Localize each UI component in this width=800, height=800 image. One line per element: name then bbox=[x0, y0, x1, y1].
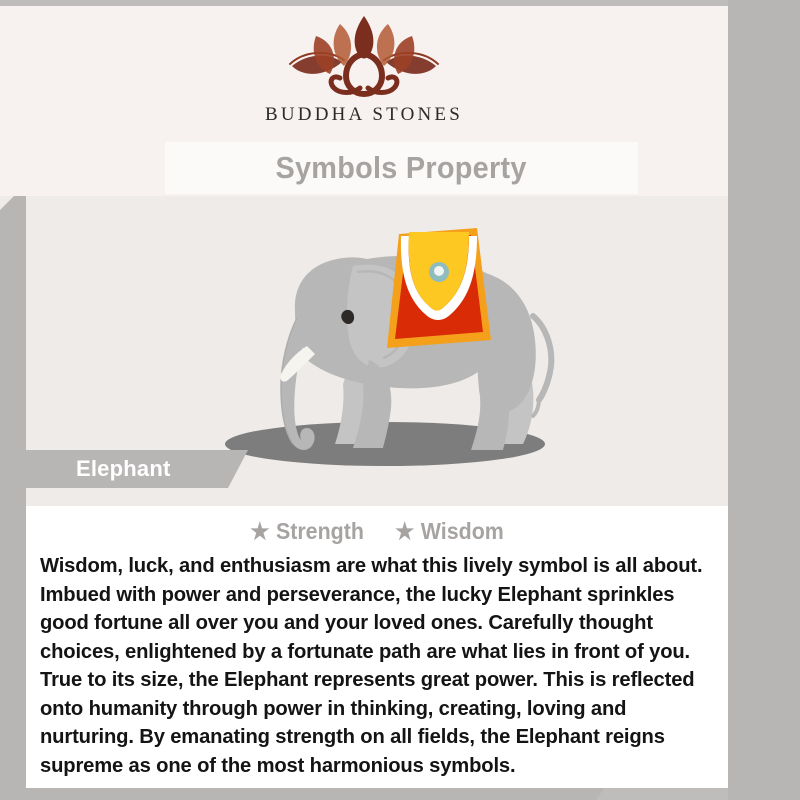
symbol-name: Elephant bbox=[76, 456, 171, 482]
attribute-wisdom: ★ Wisdom bbox=[395, 518, 504, 545]
description-panel: ★ Strength ★ Wisdom Wisdom, luck, and en… bbox=[26, 506, 728, 788]
brand-logo: BUDDHA STONES bbox=[0, 14, 728, 142]
lotus-meditation-icon bbox=[270, 14, 458, 102]
attribute-strength: ★ Strength bbox=[251, 518, 365, 545]
star-icon: ★ bbox=[395, 520, 414, 543]
page-title: Symbols Property bbox=[276, 150, 527, 186]
left-accent-bar bbox=[0, 196, 26, 800]
description-text: Wisdom, luck, and enthusiasm are what th… bbox=[40, 552, 716, 781]
right-accent-bar bbox=[728, 0, 800, 800]
attributes-row: ★ Strength ★ Wisdom bbox=[26, 512, 728, 550]
attribute-label: Wisdom bbox=[420, 518, 503, 545]
attribute-label: Strength bbox=[276, 518, 364, 545]
saddle-blanket bbox=[387, 228, 491, 348]
brand-name: BUDDHA STONES bbox=[265, 104, 463, 126]
title-banner: Symbols Property bbox=[165, 142, 638, 194]
infographic-page: BUDDHA STONES Symbols Property bbox=[0, 0, 800, 800]
star-icon: ★ bbox=[251, 520, 270, 543]
symbol-name-banner: Elephant bbox=[26, 450, 248, 488]
